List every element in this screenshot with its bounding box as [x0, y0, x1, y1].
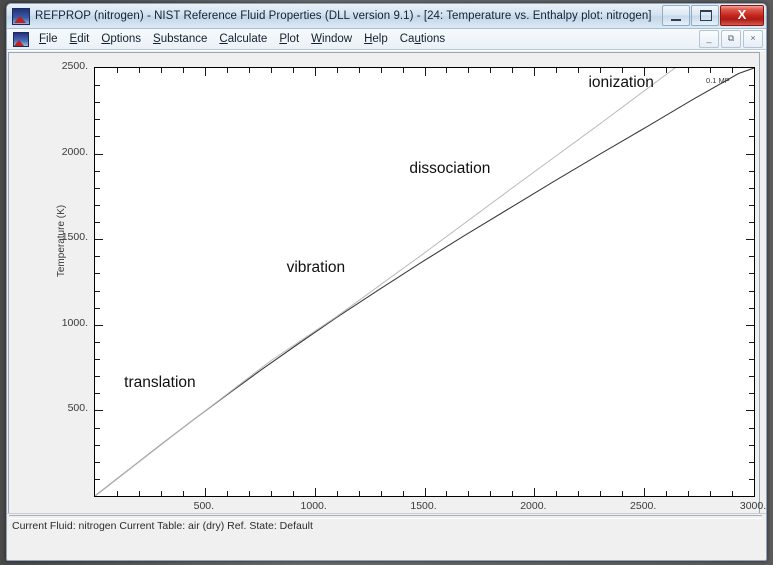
window-controls: X [662, 5, 764, 26]
desktop-background: REFPROP (nitrogen) - NIST Reference Flui… [0, 0, 773, 565]
application-window: REFPROP (nitrogen) - NIST Reference Flui… [6, 3, 767, 561]
refprop-document-icon [13, 32, 29, 47]
y-tick-label: 2000. [42, 146, 88, 158]
status-bar-divider [9, 515, 762, 519]
status-bar: Current Fluid: nitrogen Current Table: a… [7, 513, 766, 538]
maximize-icon [700, 10, 712, 21]
graph-series-layer [95, 68, 754, 496]
x-tick-label: 2000. [503, 500, 563, 512]
status-bar-text: Current Fluid: nitrogen Current Table: a… [12, 520, 313, 532]
isobar-pressure-label: 0.1 MP [706, 76, 730, 85]
minimize-icon [671, 19, 681, 21]
menu-item-edit[interactable]: Edit [64, 31, 96, 47]
y-tick-label: 1500. [42, 231, 88, 243]
x-tick-label: 1000. [284, 500, 344, 512]
window-title: REFPROP (nitrogen) - NIST Reference Flui… [35, 10, 652, 22]
menu-item-options[interactable]: Options [95, 31, 147, 47]
title-bar: REFPROP (nitrogen) - NIST Reference Flui… [7, 4, 766, 29]
maximize-button[interactable] [691, 5, 719, 26]
annotation-vibration: vibration [287, 259, 346, 277]
menu-item-window[interactable]: Window [305, 31, 358, 47]
menu-bar: File Edit Options Substance Calculate Pl… [7, 29, 766, 50]
mdi-child-controls: _ ⧉ × [699, 30, 763, 48]
refprop-app-icon [12, 8, 30, 25]
menu-item-substance[interactable]: Substance [147, 31, 213, 47]
y-tick-label: 500. [42, 402, 88, 414]
x-tick-label: 3000. [723, 500, 767, 512]
mdi-client-area: Temperature (K) Enthalpy (kJ/kg) 500.100… [7, 50, 766, 538]
mdi-close-button[interactable]: × [743, 30, 763, 48]
y-tick-label: 1000. [42, 317, 88, 329]
y-tick-label: 2500. [42, 60, 88, 72]
graph-plot-area[interactable] [94, 67, 755, 497]
mdi-minimize-button[interactable]: _ [699, 30, 719, 48]
x-tick-label: 500. [174, 500, 234, 512]
annotation-translation: translation [124, 374, 196, 392]
series-line-1 [95, 68, 675, 496]
menu-item-help[interactable]: Help [358, 31, 394, 47]
menu-item-calculate[interactable]: Calculate [213, 31, 273, 47]
annotation-dissociation: dissociation [409, 160, 490, 178]
x-tick-label: 2500. [613, 500, 673, 512]
menu-item-plot[interactable]: Plot [273, 31, 305, 47]
annotation-ionization: ionization [588, 74, 654, 92]
x-tick-label: 1500. [394, 500, 454, 512]
menu-item-cautions[interactable]: Cautions [394, 31, 451, 47]
minimize-button[interactable] [662, 5, 690, 26]
plot-canvas: Temperature (K) Enthalpy (kJ/kg) 500.100… [9, 53, 759, 529]
series-line-0 [95, 68, 754, 496]
menu-item-file[interactable]: File [33, 31, 64, 47]
mdi-restore-button[interactable]: ⧉ [721, 30, 741, 48]
plot-child-window: Temperature (K) Enthalpy (kJ/kg) 500.100… [8, 52, 760, 530]
close-button[interactable]: X [720, 5, 764, 26]
